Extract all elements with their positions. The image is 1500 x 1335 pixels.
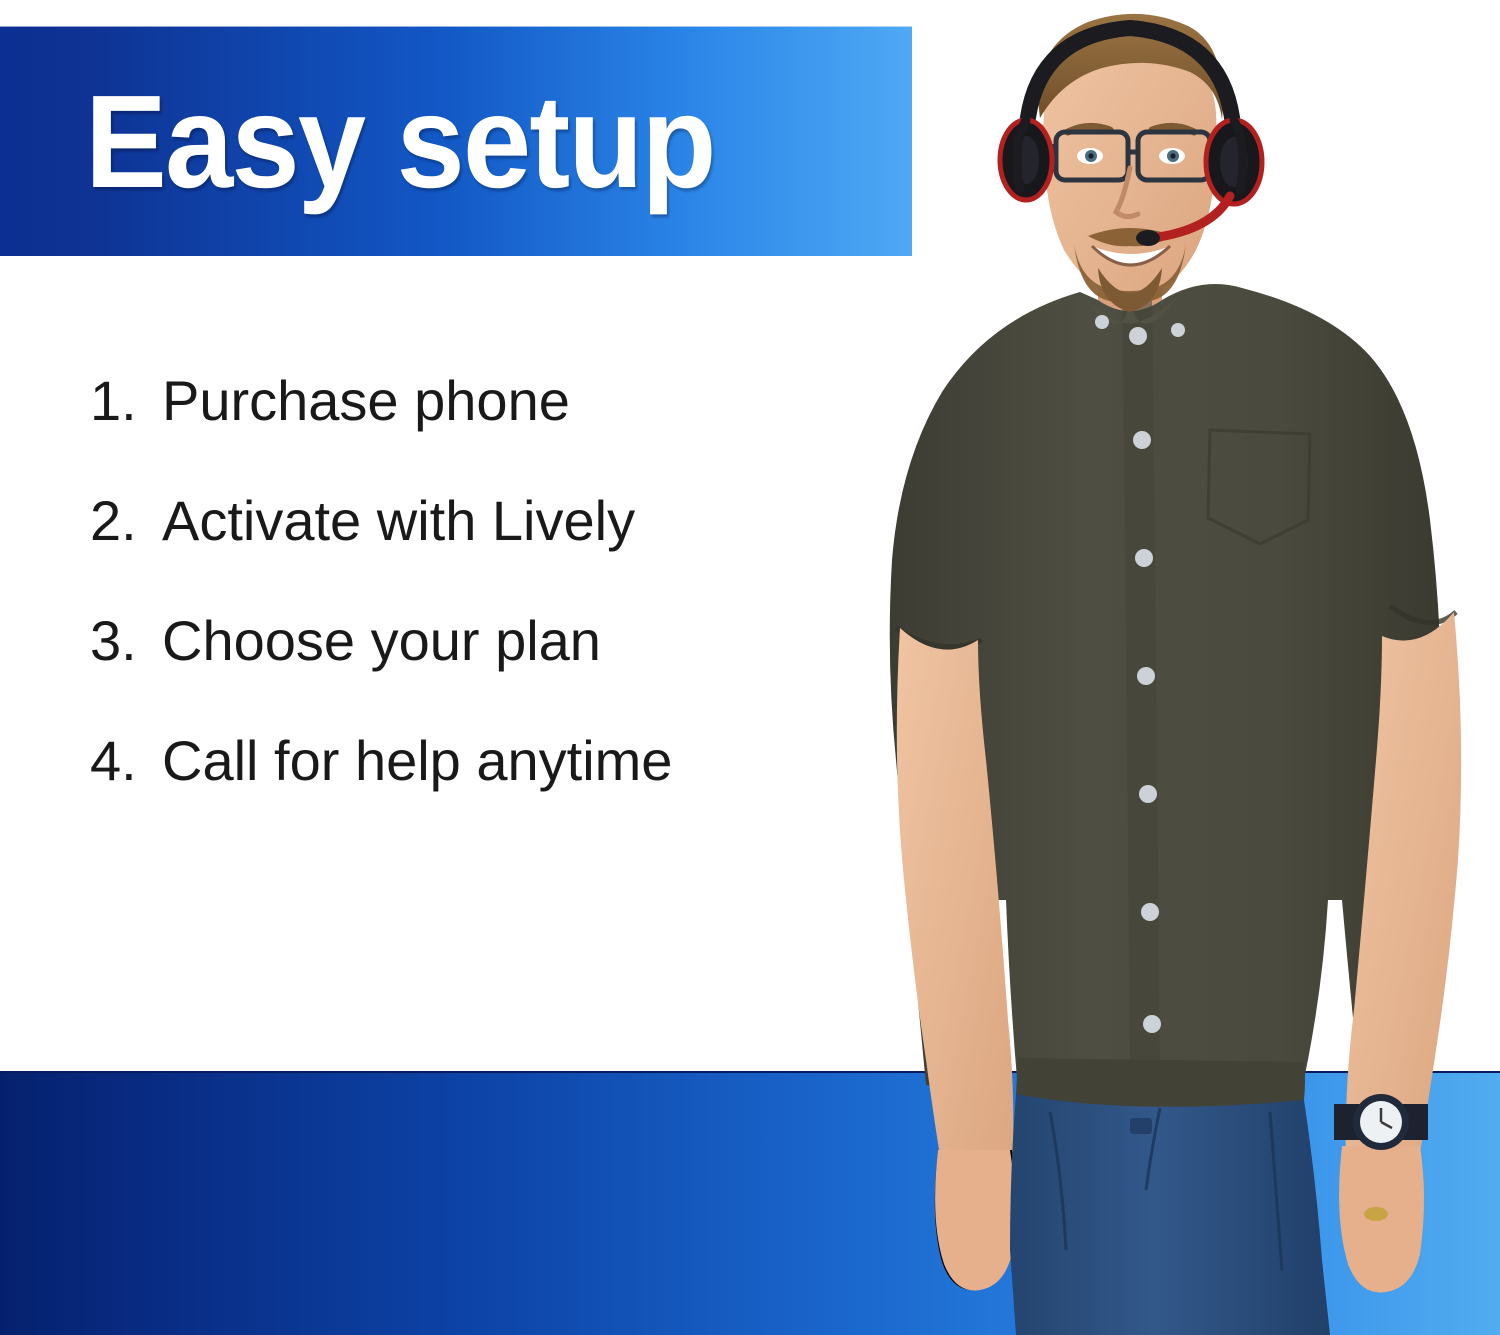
photo-man-with-headset (830, 0, 1500, 1335)
list-item: 1. Purchase phone (90, 372, 790, 492)
list-item: 3. Choose your plan (90, 612, 790, 732)
step-label: Choose your plan (162, 612, 601, 670)
step-label: Activate with Lively (162, 492, 635, 550)
setup-steps-list: 1. Purchase phone 2. Activate with Livel… (90, 372, 790, 852)
header-banner: Easy setup (0, 26, 912, 256)
step-number: 1. (90, 372, 162, 430)
step-number: 2. (90, 492, 162, 550)
marketing-image-canvas: Easy setup 1. Purchase phone 2. Activate… (0, 0, 1500, 1335)
step-number: 4. (90, 732, 162, 790)
page-title: Easy setup (85, 76, 715, 208)
list-item: 4. Call for help anytime (90, 732, 790, 852)
list-item: 2. Activate with Lively (90, 492, 790, 612)
step-label: Call for help anytime (162, 732, 672, 790)
step-label: Purchase phone (162, 372, 570, 430)
step-number: 3. (90, 612, 162, 670)
